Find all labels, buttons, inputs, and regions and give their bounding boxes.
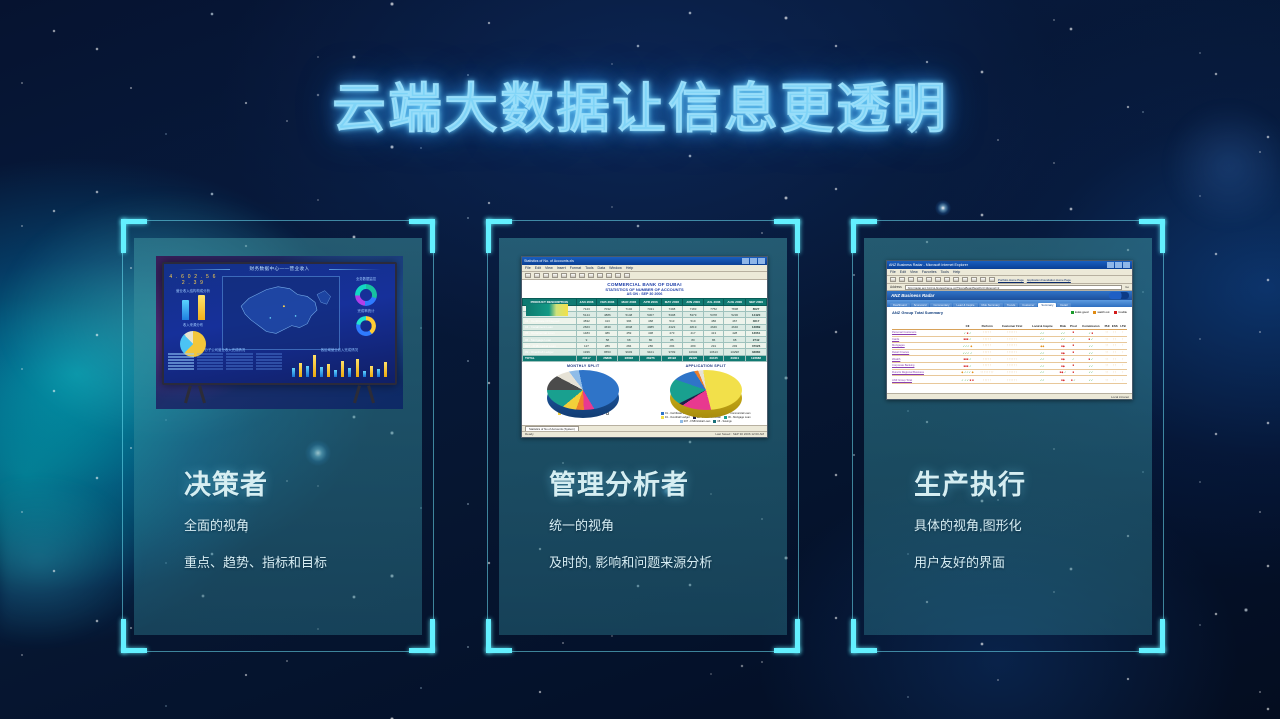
cell: ↑	[1119, 330, 1127, 337]
menu-tools[interactable]: Tools	[941, 270, 949, 274]
tv-leg-left	[182, 385, 208, 403]
cell: ■✓	[1078, 336, 1103, 343]
maximize-icon	[1115, 262, 1122, 268]
dashboard-bottom-table: 分子公司营业收入完成情况	[168, 347, 282, 381]
row-label[interactable]: Corporate Banking	[892, 362, 958, 369]
close-icon	[758, 258, 765, 264]
save-icon	[543, 273, 549, 278]
cards-row: 财务数据中心——营业收入 4 . 6 0 2 . 5 6 2 . 3 9 营业收…	[0, 0, 1280, 719]
card-bullets: 具体的视角,图形化 用户友好的界面	[914, 517, 1144, 590]
cell: ✓	[1068, 356, 1078, 363]
cell: ↑↑↑↑↑↑	[997, 356, 1027, 363]
menu-help[interactable]: Help	[953, 270, 960, 274]
report-header: COMMERCIAL BANK OF DUBAI STATISTICS OF N…	[522, 280, 767, 297]
cell: ✓✓	[1078, 349, 1103, 356]
col-mar: MAR 2006	[618, 299, 640, 306]
legend-label: trouble	[1118, 310, 1127, 314]
pie-disc	[670, 370, 742, 410]
search-icon	[935, 277, 941, 282]
cell: ✓✓	[1027, 356, 1057, 363]
cell: ✓✓✓◆	[958, 343, 977, 350]
table-total-row: TOTAL 23317 26888 28008 28276 28193 2932…	[523, 355, 767, 361]
cell: ↑↑	[1104, 369, 1111, 376]
sheet-tab[interactable]: Statistics of No of Accounts (System)	[525, 426, 579, 431]
table-row: Cards ■■■✓ ↑↑↑↑↑ ↑↑↑↑↑↑ ✓✓ ✓✓ ✓ ■✓ ↑↑	[892, 336, 1127, 343]
card-decision-maker[interactable]: 财务数据中心——营业收入 4 . 6 0 2 . 5 6 2 . 3 9 营业收…	[122, 220, 434, 652]
open-icon	[534, 273, 540, 278]
menu-data[interactable]: Data	[598, 266, 606, 270]
cell: ✓✓	[1057, 336, 1068, 343]
link-portfolio-home[interactable]: Portfolio Home Page	[998, 278, 1024, 282]
cell: ↑↑↑↑↑↑	[997, 336, 1027, 343]
sum-icon	[597, 273, 603, 278]
dashboard-bottom-right-title: 各区域营业收入完成情况	[288, 347, 391, 352]
card-heading: 管理分析者	[549, 463, 689, 502]
cell: ■	[1068, 362, 1078, 369]
pie-3d-application	[670, 370, 742, 410]
dashboard-left-column: 4 . 6 0 2 . 5 6 2 . 3 9 营业收入结构构成分析 收入来源分…	[168, 274, 218, 357]
row-label[interactable]: Wealth	[892, 356, 958, 363]
cell: ✓✓	[1027, 362, 1057, 369]
monthly-split-title: MONTHLY SPLIT	[522, 364, 645, 368]
cell: ↑↑	[1104, 349, 1111, 356]
menu-file[interactable]: File	[525, 266, 531, 270]
dashboard-donut-chart	[355, 284, 377, 306]
cell: ↑↑↑↑↑	[977, 376, 997, 384]
menu-file[interactable]: File	[890, 270, 896, 274]
cell: ↑↑↑↑↑↑	[997, 376, 1027, 384]
legend-item: 007 - FNB Global Loan	[680, 420, 711, 423]
tv-photo: 财务数据中心——营业收入 4 . 6 0 2 . 5 6 2 . 3 9 营业收…	[156, 256, 403, 409]
close-icon	[1123, 262, 1130, 268]
legend-label: looks good	[1075, 310, 1089, 314]
address-label: Address	[890, 285, 902, 289]
radar-table: CII Perform Customer First Local & Inspi…	[892, 323, 1127, 384]
menu-window[interactable]: Window	[609, 266, 622, 270]
cell: ■	[1068, 343, 1078, 350]
window-statusbar: Ready Last Saved : SEP 30 2006 12:00 AM	[522, 431, 767, 437]
cell: ✓✓	[1027, 349, 1057, 356]
card-panel: 财务数据中心——营业收入 4 . 6 0 2 . 5 6 2 . 3 9 营业收…	[134, 238, 422, 635]
dashboard-left-caption: 营业收入结构构成分析	[168, 288, 218, 293]
address-bar[interactable]: Address http://radar.anz.biz/cgi-bin/app…	[887, 284, 1132, 291]
cell: ↑	[1119, 356, 1127, 363]
card-bullets: 统一的视角 及时的, 影响和问题来源分析	[549, 517, 779, 590]
window-title: ANZ Business Radar - Microsoft Internet …	[889, 263, 1107, 267]
col-jun: JUN 2006	[683, 299, 704, 306]
window-controls[interactable]	[1107, 262, 1130, 268]
chart-icon	[615, 273, 621, 278]
tv-stand	[156, 381, 403, 403]
cell: ✓✓✓■■	[958, 376, 977, 384]
cell: ↑↑	[1111, 369, 1119, 376]
browser-toolbar[interactable]: Portfolio Home Page Application Foundati…	[887, 276, 1132, 284]
legend-looks-good: looks good	[1071, 310, 1089, 314]
zoom-icon	[624, 273, 630, 278]
minimize-icon	[742, 258, 749, 264]
table-total-row: ANZ Group Total ✓✓✓■■ ↑↑↑↑↑ ↑↑↑↑↑↑ ✓✓ ■◆…	[892, 376, 1127, 384]
cell: ↑↑↑↑↑↑	[997, 349, 1027, 356]
cell: ↑↑	[1111, 343, 1119, 350]
column-bars	[288, 353, 391, 377]
total-label: TOTAL	[523, 355, 577, 361]
dashboard-right-caption: 业务数据监控	[341, 276, 391, 281]
menu-favorites[interactable]: Favorites	[922, 270, 937, 274]
maximize-icon	[750, 258, 757, 264]
cell: ↑↑↑↑↑	[977, 343, 997, 350]
cell: ↑↑	[1104, 336, 1111, 343]
mail-icon	[971, 277, 977, 282]
cell: ✓✓	[1078, 343, 1103, 350]
cut-icon	[561, 273, 567, 278]
cell: ↑↑↑↑↑	[977, 330, 997, 337]
cell: ✓■✓	[958, 330, 977, 337]
window-menubar[interactable]: File Edit View Favorites Tools Help	[887, 269, 1132, 276]
cell: ↑↑	[1111, 376, 1119, 384]
dashboard-bar-pair	[168, 294, 218, 320]
card-line: 统一的视角	[549, 517, 779, 535]
screenshot-bank-spreadsheet[interactable]: Statistics of No. of Accounts.xls File E…	[521, 256, 768, 438]
history-icon	[962, 277, 968, 282]
cell: ↑↑↑↑↑↑	[997, 362, 1027, 369]
menu-view[interactable]: View	[910, 270, 918, 274]
legend-item: 08 - Savings	[713, 420, 731, 423]
dashboard-right-column: 业务数据监控 完成率统计	[341, 274, 391, 336]
total-label[interactable]: ANZ Group Total	[892, 376, 958, 384]
cell: ✓✓	[1057, 330, 1068, 337]
edit-icon	[989, 277, 995, 282]
cell: ■	[1068, 330, 1078, 337]
app-title: ANZ Business Radar	[891, 293, 934, 298]
bar-blue	[182, 300, 189, 320]
col-apr: APR 2006	[640, 299, 661, 306]
row-label[interactable]: Rural & Regional Business	[892, 369, 958, 376]
cell: ↑↑↑↑↑	[977, 336, 997, 343]
table-row: Retail Finance ✓✓✓✓ ↑↑↑↑↑ ↑↑↑↑↑↑ ✓✓ ■◆ ■…	[892, 349, 1127, 356]
cell: ↑	[1119, 343, 1127, 350]
cell: ✓✓	[1078, 369, 1103, 376]
cell: ↑↑	[1104, 376, 1111, 384]
total-cell: 26888	[597, 355, 618, 361]
cell: ◆◆	[1027, 343, 1057, 350]
cell: ↑↑	[1111, 349, 1119, 356]
cell: ✓✓	[1078, 362, 1103, 369]
col-jul: JUL 2006	[703, 299, 723, 306]
card-panel: ANZ Business Radar - Microsoft Internet …	[864, 238, 1152, 635]
cell: ■	[1068, 349, 1078, 356]
menu-tools[interactable]: Tools	[585, 266, 593, 270]
undo-icon	[588, 273, 594, 278]
cell: ↑	[1119, 369, 1127, 376]
bar-yellow	[198, 295, 205, 320]
total-cell: 29445	[703, 355, 723, 361]
cell: ■◆	[1057, 376, 1068, 384]
app-header: ANZ Business Radar	[887, 291, 1132, 300]
cell: ↑↑↑↑↑↑	[997, 343, 1027, 350]
report-as-on: AS ON : SEP 30 2006	[522, 292, 767, 296]
status-right: Local intranet	[1111, 395, 1129, 399]
status-legend: looks good watch out trouble	[1071, 310, 1127, 314]
cell: ✓■	[1078, 330, 1103, 337]
card-production-execution[interactable]: ANZ Business Radar - Microsoft Internet …	[852, 220, 1164, 652]
card-line: 全面的视角	[184, 517, 414, 535]
cell: ■◆	[1057, 343, 1068, 350]
window-toolbar[interactable]	[522, 272, 767, 280]
cell: ✓✓	[1027, 369, 1057, 376]
menu-edit[interactable]: Edit	[900, 270, 906, 274]
cell: ✓✓✓✓	[958, 349, 977, 356]
legend-watch-out: watch out	[1093, 310, 1109, 314]
cell: ■◆	[1057, 356, 1068, 363]
print-icon	[552, 273, 558, 278]
legend-label: 08 - Savings	[717, 420, 731, 423]
cell: ■	[1068, 369, 1078, 376]
col-feb: FEB 2006	[597, 299, 618, 306]
address-input[interactable]: http://radar.anz.biz/cgi-bin/appframe.cg…	[905, 285, 1123, 290]
total-cell: 28008	[618, 355, 640, 361]
table-row: Personal Customers ✓■✓ ↑↑↑↑↑ ↑↑↑↑↑↑ ✓✓ ✓…	[892, 330, 1127, 337]
status-left: Ready	[525, 432, 534, 436]
cell: ↑↑	[1111, 362, 1119, 369]
cell: ■■■✓	[958, 356, 977, 363]
go-button[interactable]: Go	[1125, 285, 1129, 289]
cell: ↑	[1119, 349, 1127, 356]
minimize-icon	[1107, 262, 1114, 268]
cell: ↑↑↑↑↑	[977, 356, 997, 363]
legend-item: 06 - Mortgage Loan	[724, 416, 751, 419]
dashboard-column-chart: 各区域营业收入完成情况	[288, 347, 391, 381]
forward-icon	[899, 277, 905, 282]
legend-label: 04 - Overdraft Ledger	[665, 416, 690, 419]
legend-label: 007 - FNB Global Loan	[684, 420, 711, 423]
dashboard-donut-chart-2	[356, 316, 376, 336]
menu-view[interactable]: View	[545, 266, 553, 270]
cell: ↑↑↑↑↑	[977, 362, 997, 369]
row-label[interactable]: Retail Finance	[892, 349, 958, 356]
cell: ↑↑↑↑↑↑	[997, 330, 1027, 337]
total-cell: 23317	[576, 355, 597, 361]
dashboard-right-caption-2: 完成率统计	[341, 308, 391, 313]
screenshot-anz-radar[interactable]: ANZ Business Radar - Microsoft Internet …	[886, 260, 1133, 400]
table-row: Mortgages ✓✓✓◆ ↑↑↑↑↑ ↑↑↑↑↑↑ ◆◆ ■◆ ■ ✓✓ ↑	[892, 343, 1127, 350]
col-sep: SEP 2006	[746, 299, 767, 306]
sort-icon	[606, 273, 612, 278]
total-cell: 29320	[683, 355, 704, 361]
menu-help[interactable]: Help	[626, 266, 633, 270]
home-icon	[926, 277, 932, 282]
cell: ↑↑	[1104, 330, 1111, 337]
window-titlebar[interactable]: Statistics of No. of Accounts.xls	[522, 257, 767, 265]
cell: ↑↑	[1111, 336, 1119, 343]
cell: ↑	[1119, 336, 1127, 343]
card-heading: 生产执行	[914, 463, 1026, 502]
tv-bezel: 财务数据中心——营业收入 4 . 6 0 2 . 5 6 2 . 3 9 营业收…	[162, 262, 397, 385]
dashboard-big-number: 4 . 6 0 2 . 5 6 2 . 3 9	[168, 274, 218, 286]
media-icon	[953, 277, 959, 282]
cell: ↑↑	[1104, 362, 1111, 369]
legend-label: watch out	[1097, 310, 1109, 314]
cell: ↑↑↑↑↑	[977, 349, 997, 356]
window-statusbar: Local intranet	[887, 393, 1132, 399]
table-row: Wealth ■■■✓ ↑↑↑↑↑ ↑↑↑↑↑↑ ✓✓ ■◆ ✓ ■✓ ↑↑	[892, 356, 1127, 363]
cell: ✓✓	[1078, 376, 1103, 384]
cell: ■✓	[1078, 356, 1103, 363]
stop-icon	[908, 277, 914, 282]
card-line: 重点、趋势、指标和目标	[184, 554, 414, 572]
total-cell: 28276	[640, 355, 661, 361]
pie-3d-monthly	[547, 370, 619, 410]
card-panel: Statistics of No. of Accounts.xls File E…	[499, 238, 787, 635]
monthly-split-chart: MONTHLY SPLIT	[522, 362, 645, 425]
cell: ↑↑↑↑↑↑	[997, 369, 1027, 376]
application-split-title: APPLICATION SPLIT	[645, 364, 768, 368]
dashboard-title: 财务数据中心——营业收入	[164, 266, 395, 272]
new-icon	[525, 273, 531, 278]
cell: ■■■✓	[958, 362, 977, 369]
table-row: Rural & Regional Business ◆✓✓✓◆ ↑↑↑↑↑↑↑↑…	[892, 369, 1127, 376]
app-tabs[interactable]: Dashboard Scorecard Commentary Lead & In…	[887, 300, 1132, 307]
row-label[interactable]: Cards	[892, 336, 958, 343]
cell: ■◆	[1057, 349, 1068, 356]
cell: ■◆✓	[1057, 369, 1068, 376]
tv-screen: 财务数据中心——营业收入 4 . 6 0 2 . 5 6 2 . 3 9 营业收…	[164, 264, 395, 383]
window-titlebar[interactable]: ANZ Business Radar - Microsoft Internet …	[887, 261, 1132, 269]
anz-logo-icon	[1109, 292, 1129, 299]
spreadsheet-body: COMMERCIAL BANK OF DUBAI STATISTICS OF N…	[522, 280, 767, 425]
col-jan: JAN 2006	[576, 299, 597, 306]
cell: ✓✓	[1027, 376, 1057, 384]
favorites-icon	[944, 277, 950, 282]
back-icon	[890, 277, 896, 282]
cell: ↑↑	[1104, 356, 1111, 363]
card-heading: 决策者	[184, 463, 268, 502]
link-application-foundation[interactable]: Application Foundation Home Page	[1027, 278, 1071, 282]
application-split-chart: APPLICATION SPLIT 01 - Certificate Of De…	[645, 362, 768, 425]
tv-leg-right	[351, 385, 377, 403]
browser-page: ANZ Business Radar Dashboard Scorecard C…	[887, 291, 1132, 393]
radar-table-body: Personal Customers ✓■✓ ↑↑↑↑↑ ↑↑↑↑↑↑ ✓✓ ✓…	[892, 330, 1127, 384]
dashboard-pie-caption: 收入来源分布	[168, 322, 218, 327]
cell: ↑↑	[1111, 330, 1119, 337]
copy-icon	[570, 273, 576, 278]
legend-trouble: trouble	[1114, 310, 1127, 314]
card-line: 具体的视角,图形化	[914, 517, 1144, 535]
total-cell: 29304	[724, 355, 746, 361]
refresh-icon	[917, 277, 923, 282]
cell: ✓✓	[1027, 330, 1057, 337]
cell: ■◆	[1057, 362, 1068, 369]
col-aug: AUG 2006	[724, 299, 746, 306]
row-label[interactable]: Personal Customers	[892, 330, 958, 337]
cell: ◆✓✓✓◆	[958, 369, 977, 376]
col-may: MAY 2006	[661, 299, 682, 306]
screenshot-tv-dashboard[interactable]: 财务数据中心——营业收入 4 . 6 0 2 . 5 6 2 . 3 9 营业收…	[156, 256, 403, 409]
cell: ✓✓	[1027, 336, 1057, 343]
menu-edit[interactable]: Edit	[535, 266, 541, 270]
pie-charts-row: MONTHLY SPLIT	[522, 362, 767, 425]
window-menubar[interactable]: File Edit View Insert Format Tools Data …	[522, 265, 767, 272]
card-management-analyst[interactable]: Statistics of No. of Accounts.xls File E…	[487, 220, 799, 652]
cell: ↑	[1119, 362, 1127, 369]
legend-label: 06 - Mortgage Loan	[728, 416, 751, 419]
browser-window: ANZ Business Radar - Microsoft Internet …	[886, 260, 1133, 400]
cell: ↑	[1119, 376, 1127, 384]
window-controls[interactable]	[742, 258, 765, 264]
pie-disc	[547, 370, 619, 410]
report-area: ANZ Group Total Summary looks good watch…	[887, 307, 1132, 393]
card-bullets: 全面的视角 重点、趋势、指标和目标	[184, 517, 414, 590]
total-cell: 28193	[661, 355, 682, 361]
legend-item: 04 - Overdraft Ledger	[661, 416, 690, 419]
menu-insert[interactable]: Insert	[557, 266, 566, 270]
window-title: Statistics of No. of Accounts.xls	[524, 259, 742, 263]
cell: ■■■✓	[958, 336, 977, 343]
cell: ✓	[1068, 336, 1078, 343]
cell: ↑↑	[1104, 343, 1111, 350]
cell: ■✓	[1068, 376, 1078, 384]
table-row: Corporate Banking ■■■✓ ↑↑↑↑↑ ↑↑↑↑↑↑ ✓✓ ■…	[892, 362, 1127, 369]
menu-format[interactable]: Format	[570, 266, 581, 270]
status-right: Last Saved : SEP 30 2006 12:00 AM	[715, 432, 764, 436]
row-label[interactable]: Mortgages	[892, 343, 958, 350]
spreadsheet-window: Statistics of No. of Accounts.xls File E…	[521, 256, 768, 438]
dashboard-bottom-left-title: 分子公司营业收入完成情况	[168, 347, 282, 352]
cell: ↑↑↑↑↑↑↑↑	[977, 369, 997, 376]
card-line: 及时的, 影响和问题来源分析	[549, 554, 779, 572]
dashboard-china-map	[222, 276, 340, 350]
cell: ↑↑	[1111, 356, 1119, 363]
grand-total-cell: 123882	[746, 355, 767, 361]
bank-logo	[526, 304, 568, 316]
paste-icon	[579, 273, 585, 278]
print-icon	[980, 277, 986, 282]
dashboard-bottom-row: 分子公司营业收入完成情况 各区域营业收入完成情况	[168, 347, 391, 381]
card-line: 用户友好的界面	[914, 554, 1144, 572]
